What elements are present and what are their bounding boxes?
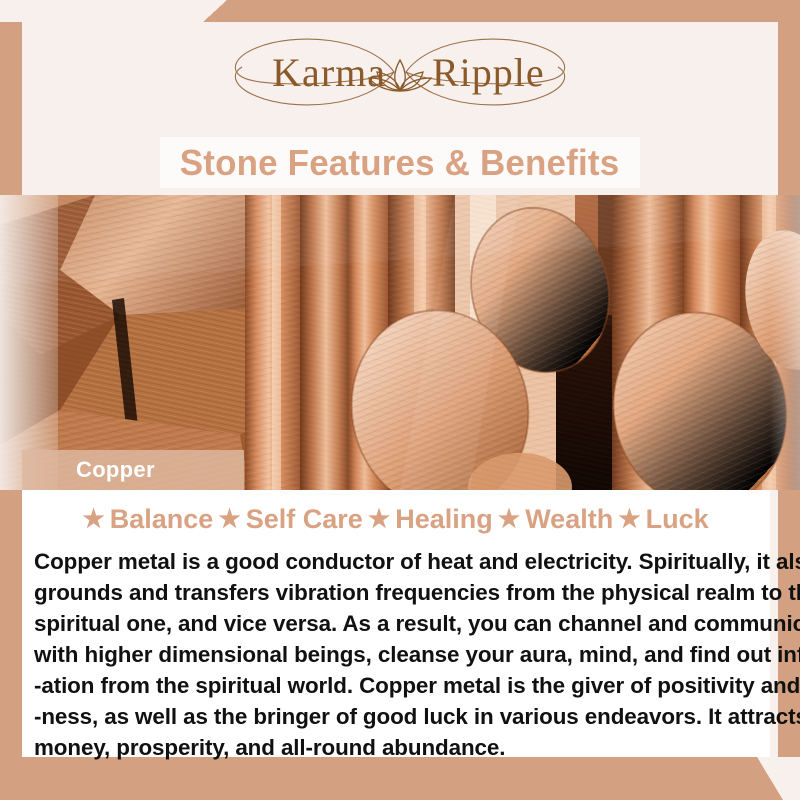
photo-artwork — [0, 195, 800, 490]
description-line: Copper metal is a good conductor of heat… — [34, 546, 760, 577]
logo-word-right: Ripple — [432, 50, 545, 95]
star-icon: ★ — [496, 507, 522, 532]
star-icon: ★ — [366, 507, 392, 532]
description-line: with higher dimensional beings, cleanse … — [34, 639, 760, 670]
photo-caption-label: Copper — [76, 457, 155, 483]
description-line: spiritual one, and vice versa. As a resu… — [34, 608, 760, 639]
logo-word-left: Karma — [272, 50, 386, 95]
content-panel: ★ Balance ★ Self Care ★ Healing ★ Wealth… — [22, 490, 770, 757]
description-line: money, prosperity, and all-round abundan… — [34, 732, 760, 763]
title-banner: Stone Features & Benefits — [160, 137, 640, 188]
keyword-self-care: Self Care — [243, 504, 366, 535]
keyword-balance: Balance — [107, 504, 217, 535]
frame-bar-top — [225, 0, 800, 22]
description-line: -ation from the spiritual world. Copper … — [34, 670, 760, 701]
keyword-luck: Luck — [643, 504, 712, 535]
frame-bar-bottom — [0, 757, 760, 800]
description-line: -ness, as well as the bringer of good lu… — [34, 701, 760, 732]
keyword-list: ★ Balance ★ Self Care ★ Healing ★ Wealth… — [22, 504, 770, 535]
photo-caption-bar: Copper — [22, 450, 244, 490]
frame-notch-bottom-right — [757, 757, 783, 800]
description-line: grounds and transfers vibration frequenc… — [34, 577, 760, 608]
description-text: Copper metal is a good conductor of heat… — [34, 546, 760, 763]
frame-notch-top-left — [203, 0, 227, 22]
star-icon: ★ — [616, 507, 642, 532]
copper-rods-photo — [0, 195, 800, 490]
star-icon: ★ — [80, 507, 106, 532]
brand-logo: Karma Ripple — [0, 30, 800, 115]
keyword-healing: Healing — [392, 504, 496, 535]
keyword-wealth: Wealth — [522, 504, 616, 535]
page-title: Stone Features & Benefits — [180, 142, 620, 184]
star-icon: ★ — [216, 507, 242, 532]
logo-artwork: Karma Ripple — [190, 30, 610, 116]
